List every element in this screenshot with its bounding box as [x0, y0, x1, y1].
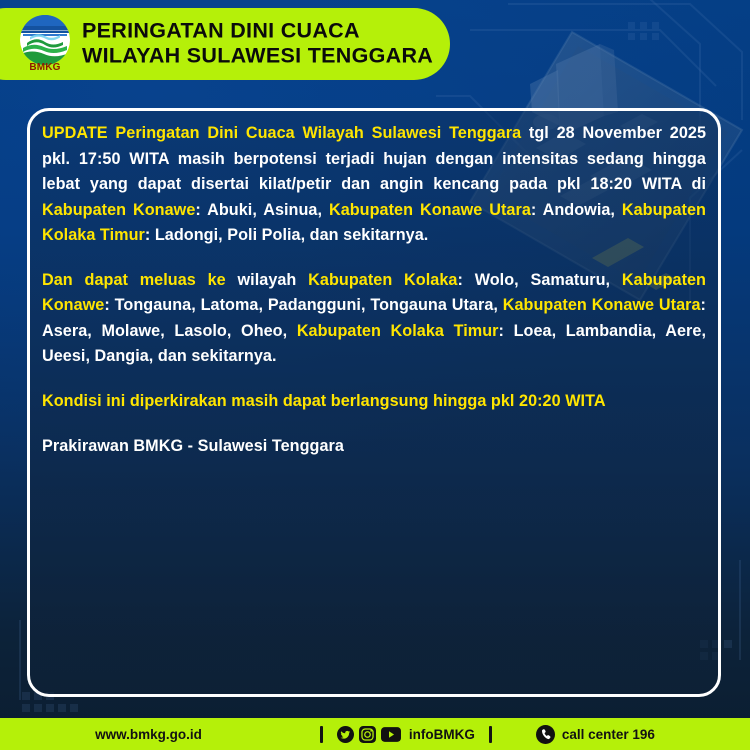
- p2-text-a: wilayah: [226, 271, 308, 289]
- phone-icon[interactable]: [536, 725, 555, 744]
- p2-regency-kolaka-timur: Kabupaten Kolaka Timur: [297, 322, 499, 340]
- footer-website[interactable]: www.bmkg.go.id: [95, 727, 202, 742]
- warning-duration-note: Kondisi ini diperkirakan masih dapat ber…: [42, 389, 706, 415]
- p2-districts-kolaka: : Wolo, Samaturu,: [457, 271, 621, 289]
- warning-paragraph-1: UPDATE Peringatan Dini Cuaca Wilayah Sul…: [42, 121, 706, 249]
- p1-regency-konawe: Kabupaten Konawe: [42, 201, 195, 219]
- footer-divider-right: [489, 726, 492, 743]
- footer-social-handle[interactable]: infoBMKG: [409, 727, 475, 742]
- bmkg-logo: BMKG: [14, 13, 76, 75]
- warning-paragraph-2: Dan dapat meluas ke wilayah Kabupaten Ko…: [42, 268, 706, 370]
- p1-districts-konawe: : Abuki, Asinua,: [195, 201, 329, 219]
- p1-districts-kolaka-timur: : Ladongi, Poli Polia, dan sekitarnya.: [145, 226, 428, 244]
- bmkg-logo-text: BMKG: [29, 63, 60, 73]
- p1-districts-konawe-utara: : Andowia,: [531, 201, 622, 219]
- p2-regency-konawe-utara: Kabupaten Konawe Utara: [503, 296, 701, 314]
- header-title-line1: PERINGATAN DINI CUACA: [82, 19, 433, 44]
- warning-text-body: UPDATE Peringatan Dini Cuaca Wilayah Sul…: [42, 121, 706, 460]
- footer-call-center[interactable]: call center 196: [562, 727, 655, 742]
- p2-regency-kolaka: Kabupaten Kolaka: [308, 271, 457, 289]
- p1-headline: UPDATE Peringatan Dini Cuaca Wilayah Sul…: [42, 124, 521, 142]
- footer-divider-left: [320, 726, 323, 743]
- header-title: PERINGATAN DINI CUACA WILAYAH SULAWESI T…: [82, 19, 433, 70]
- weather-warning-poster: BMKG PERINGATAN DINI CUACA WILAYAH SULAW…: [0, 0, 750, 750]
- warning-card: UPDATE Peringatan Dini Cuaca Wilayah Sul…: [27, 108, 721, 697]
- p2-districts-konawe: : Tongauna, Latoma, Padangguni, Tongauna…: [104, 296, 502, 314]
- footer-call-group: call center 196: [536, 725, 655, 744]
- instagram-icon[interactable]: [359, 726, 376, 743]
- p2-lead: Dan dapat meluas ke: [42, 271, 226, 289]
- warning-signature: Prakirawan BMKG - Sulawesi Tenggara: [42, 434, 706, 460]
- header-banner: BMKG PERINGATAN DINI CUACA WILAYAH SULAW…: [0, 8, 450, 80]
- youtube-icon[interactable]: [381, 727, 401, 742]
- footer-social-group: infoBMKG: [337, 726, 475, 743]
- twitter-icon[interactable]: [337, 726, 354, 743]
- footer-bar: www.bmkg.go.id infoBMKG: [0, 718, 750, 750]
- p1-regency-konawe-utara: Kabupaten Konawe Utara: [329, 201, 531, 219]
- bmkg-logo-icon: [20, 15, 70, 65]
- header-title-line2: WILAYAH SULAWESI TENGGARA: [82, 44, 433, 69]
